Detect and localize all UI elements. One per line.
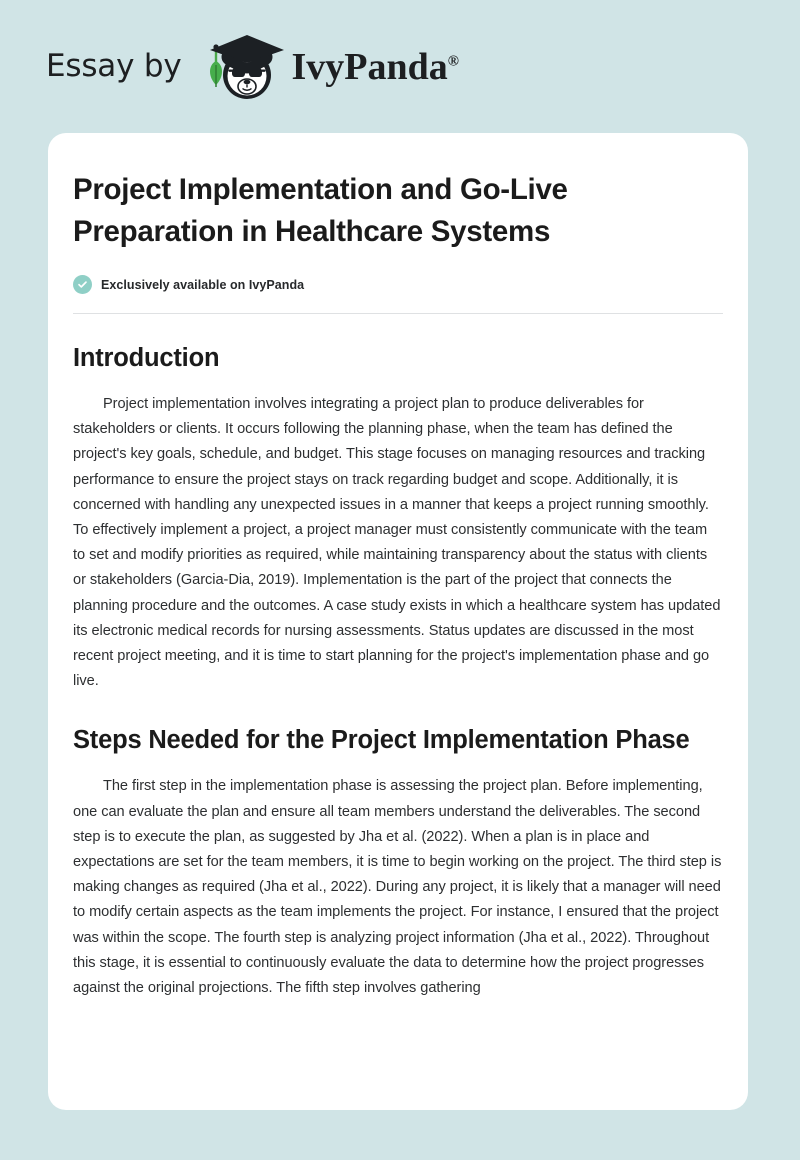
section-paragraph-introduction: Project implementation involves integrat… [73,392,723,694]
essay-by-label: Essay by [46,51,182,82]
ivypanda-wordmark-text: IvyPanda [292,46,448,88]
registered-trademark-symbol: ® [448,53,459,69]
ivypanda-wordmark: IvyPanda® [292,48,460,86]
check-circle-icon [73,275,92,294]
panda-graduate-logo-icon [202,31,288,103]
page-title: Project Implementation and Go-Live Prepa… [73,169,723,253]
section-heading-implementation-steps: Steps Needed for the Project Implementat… [73,720,723,760]
essay-paper-card: Project Implementation and Go-Live Prepa… [48,133,748,1110]
exclusivity-badge-label: Exclusively available on IvyPanda [101,278,304,292]
section-paragraph-implementation-steps: The first step in the implementation pha… [73,774,723,1001]
ivypanda-brand-lockup[interactable]: IvyPanda® [202,31,460,103]
title-divider [73,313,723,314]
page-masthead: Essay by [0,0,800,133]
exclusivity-badge: Exclusively available on IvyPanda [73,275,723,294]
section-heading-introduction: Introduction [73,338,723,378]
